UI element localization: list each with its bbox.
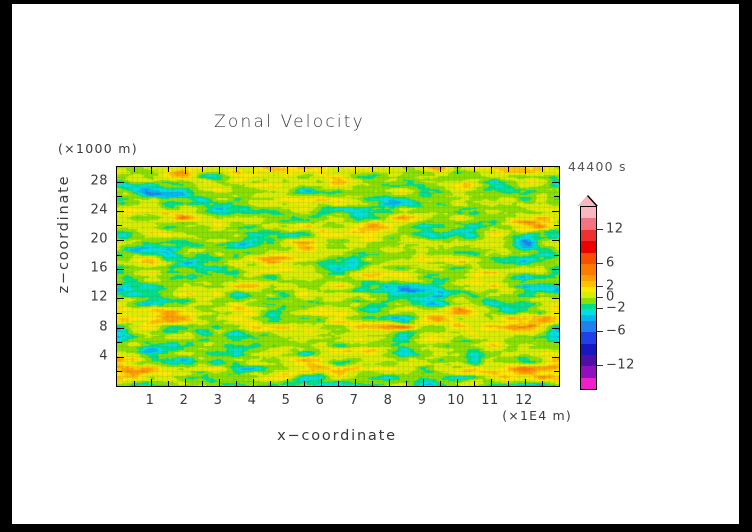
x-tick-top	[304, 166, 305, 172]
x-tick	[525, 379, 526, 387]
x-tick-top	[423, 166, 424, 174]
y-tick-right	[552, 182, 560, 183]
colorbar-tick	[597, 297, 603, 298]
x-tick-top	[355, 166, 356, 174]
x-tick	[491, 379, 492, 387]
colorbar-tick-label: −2	[606, 301, 626, 316]
colorbar-tick	[597, 263, 603, 264]
colorbar-tick-label: −12	[606, 358, 635, 373]
y-tick-right	[552, 357, 560, 358]
x-tick-top	[287, 166, 288, 174]
colorbar[interactable]: 44400 s 12620−2−6−12	[568, 159, 688, 399]
colorbar-band	[581, 321, 596, 332]
y-tick-right	[554, 371, 560, 372]
x-tick-label: 6	[316, 393, 325, 408]
colorbar-tick-label: −6	[606, 324, 626, 339]
x-tick	[270, 381, 271, 387]
timestamp-label: 44400 s	[568, 159, 627, 174]
heatmap-field	[117, 167, 559, 386]
x-tick-top	[168, 166, 169, 172]
x-tick	[321, 379, 322, 387]
y-tick	[116, 182, 124, 183]
page-title: Zonal Velocity	[12, 112, 567, 132]
y-tick-right	[552, 328, 560, 329]
y-tick	[116, 211, 124, 212]
colorbar-band	[581, 355, 596, 366]
x-tick	[440, 381, 441, 387]
x-tick-label: 5	[282, 393, 291, 408]
colorbar-band	[581, 230, 596, 241]
colorbar-tick	[597, 308, 603, 309]
x-tick-label: 4	[248, 393, 257, 408]
x-tick	[355, 379, 356, 387]
colorbar-band	[581, 264, 596, 275]
figure-root: Zonal Velocity (×1000 m) 123456789101112…	[0, 0, 752, 532]
x-tick-top	[151, 166, 152, 174]
plot-area[interactable]	[116, 166, 560, 387]
x-tick-top	[134, 166, 135, 172]
x-tick	[304, 381, 305, 387]
y-tick	[116, 342, 122, 343]
x-tick-top	[508, 166, 509, 172]
y-tick-right	[554, 196, 560, 197]
x-tick-top	[236, 166, 237, 172]
x-tick-label: 3	[214, 393, 223, 408]
x-tick-top	[338, 166, 339, 172]
y-tick-right	[554, 255, 560, 256]
colorbar-tick	[597, 331, 603, 332]
y-tick	[116, 328, 124, 329]
x-tick-label: 12	[515, 393, 533, 408]
y-tick-right	[554, 342, 560, 343]
y-axis-title: z−coordinate	[56, 144, 72, 324]
x-tick	[185, 379, 186, 387]
x-tick	[457, 379, 458, 387]
y-tick-label: 4	[70, 348, 108, 363]
y-tick-right	[552, 240, 560, 241]
colorbar-tick	[597, 229, 603, 230]
x-tick	[202, 381, 203, 387]
x-tick-top	[457, 166, 458, 174]
x-tick	[372, 381, 373, 387]
x-tick-label: 1	[146, 393, 155, 408]
x-tick-top	[525, 166, 526, 174]
colorbar-arrow-icon	[578, 196, 596, 206]
y-tick	[116, 357, 124, 358]
colorbar-band	[581, 207, 596, 218]
x-tick-label: 9	[418, 393, 427, 408]
x-tick	[406, 381, 407, 387]
colorbar-band	[581, 332, 596, 343]
y-tick	[116, 196, 122, 197]
y-tick-label: 20	[70, 232, 108, 247]
y-tick-right	[554, 313, 560, 314]
colorbar-tick-label: 6	[606, 255, 615, 270]
x-tick	[168, 381, 169, 387]
x-tick-top	[440, 166, 441, 172]
y-tick	[116, 371, 122, 372]
colorbar-band	[581, 241, 596, 252]
x-tick	[151, 379, 152, 387]
y-tick	[116, 284, 122, 285]
x-tick	[338, 381, 339, 387]
y-tick	[116, 298, 124, 299]
x-tick-top	[372, 166, 373, 172]
colorbar-band	[581, 366, 596, 377]
x-tick-top	[389, 166, 390, 174]
y-tick-label: 16	[70, 261, 108, 276]
x-tick	[423, 379, 424, 387]
x-tick-label: 2	[180, 393, 189, 408]
x-tick	[287, 379, 288, 387]
y-tick	[116, 225, 122, 226]
x-tick-top	[321, 166, 322, 174]
y-tick	[116, 269, 124, 270]
y-tick-right	[552, 298, 560, 299]
x-tick	[542, 381, 543, 387]
colorbar-tick-label: 12	[606, 221, 624, 236]
y-tick-label: 28	[70, 173, 108, 188]
x-tick-top	[491, 166, 492, 174]
x-tick-top	[270, 166, 271, 172]
x-tick-top	[202, 166, 203, 172]
y-tick	[116, 255, 122, 256]
x-tick-top	[474, 166, 475, 172]
x-tick	[219, 379, 220, 387]
y-tick-right	[552, 269, 560, 270]
x-tick	[134, 381, 135, 387]
y-tick-right	[554, 284, 560, 285]
x-tick-label: 10	[447, 393, 465, 408]
x-tick-label: 7	[350, 393, 359, 408]
x-axis-unit-label: (×1E4 m)	[412, 408, 572, 423]
x-tick	[389, 379, 390, 387]
x-axis-title: x−coordinate	[116, 428, 558, 444]
x-tick-top	[542, 166, 543, 172]
colorbar-tick	[597, 286, 603, 287]
colorbar-band	[581, 378, 596, 389]
colorbar-bands	[580, 206, 597, 390]
y-tick-label: 12	[70, 290, 108, 305]
x-tick-top	[253, 166, 254, 174]
y-tick-right	[554, 225, 560, 226]
x-tick	[508, 381, 509, 387]
plot-canvas: Zonal Velocity (×1000 m) 123456789101112…	[12, 4, 739, 524]
colorbar-band	[581, 218, 596, 229]
colorbar-band	[581, 253, 596, 264]
x-tick-top	[219, 166, 220, 174]
x-tick	[474, 381, 475, 387]
x-tick	[236, 381, 237, 387]
y-tick-label: 24	[70, 202, 108, 217]
y-tick	[116, 240, 124, 241]
colorbar-tick	[597, 365, 603, 366]
x-tick-label: 11	[481, 393, 499, 408]
x-tick-label: 8	[384, 393, 393, 408]
x-tick	[253, 379, 254, 387]
y-tick-label: 8	[70, 319, 108, 334]
colorbar-band	[581, 344, 596, 355]
x-tick-top	[185, 166, 186, 174]
x-tick-top	[406, 166, 407, 172]
y-tick-right	[552, 211, 560, 212]
y-tick	[116, 313, 122, 314]
